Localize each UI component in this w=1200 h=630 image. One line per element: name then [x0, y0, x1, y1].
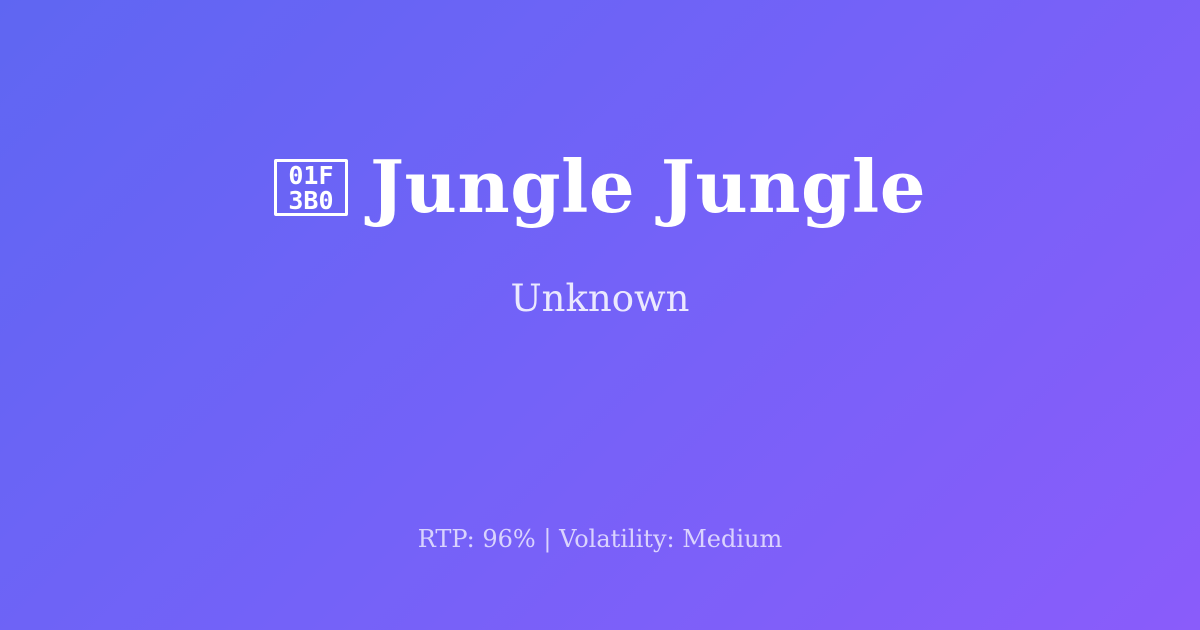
codepoint-top: 01F — [288, 163, 333, 188]
slot-machine-icon: 01F 3B0 — [274, 159, 348, 216]
card-subtitle: Unknown — [510, 277, 689, 321]
page-title: Jungle Jungle — [370, 149, 926, 225]
game-stats-line: RTP: 96% | Volatility: Medium — [418, 525, 783, 554]
codepoint-bottom: 3B0 — [288, 188, 333, 213]
card-main-content: 01F 3B0 Jungle Jungle Unknown — [0, 0, 1200, 470]
title-row: 01F 3B0 Jungle Jungle — [60, 149, 1140, 225]
card-footer: RTP: 96% | Volatility: Medium — [0, 525, 1200, 554]
game-preview-card: 01F 3B0 Jungle Jungle Unknown RTP: 96% |… — [0, 0, 1200, 630]
